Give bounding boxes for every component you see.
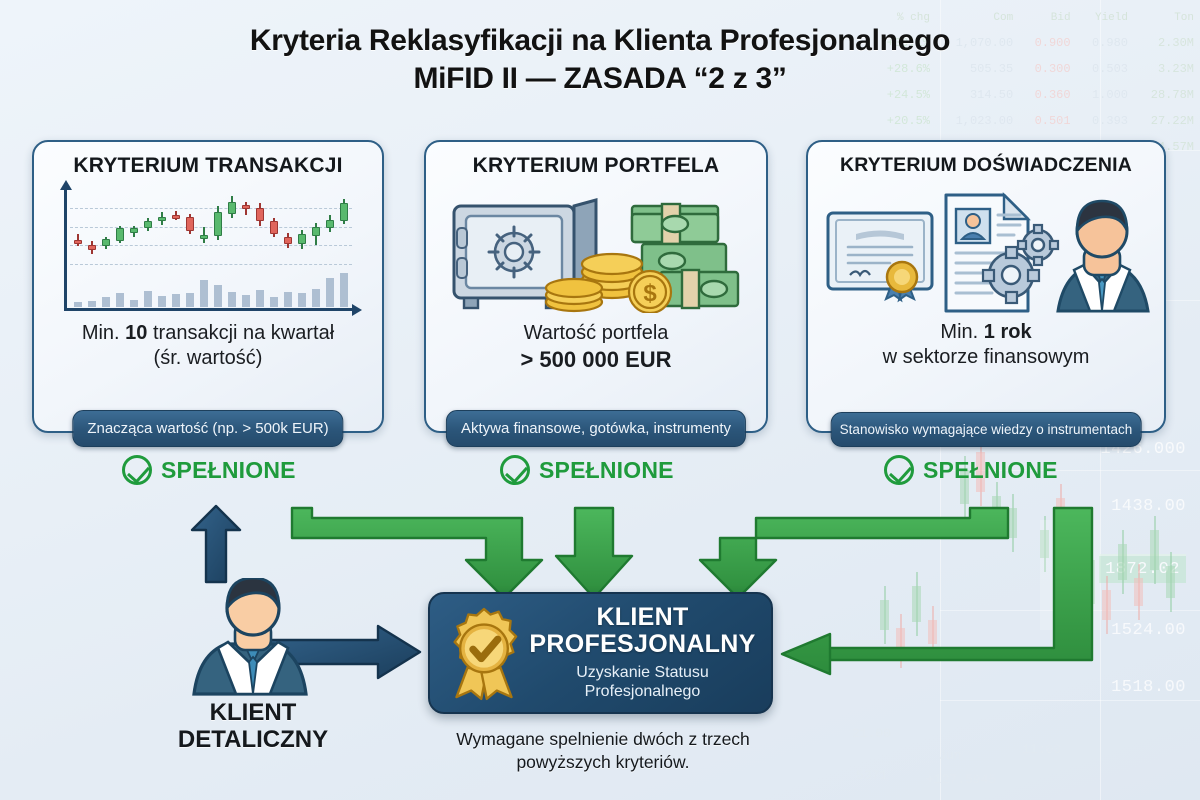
gold-award-ribbon-icon	[440, 605, 528, 701]
retail-client-label: KLIENT DETALICZNY	[148, 700, 358, 754]
result-title-line1: KLIENT	[528, 604, 757, 631]
footer-caption: Wymagane spelnienie dwóch z trzech powyż…	[408, 728, 798, 774]
result-sub-line1: Uzyskanie Statusu	[528, 663, 757, 683]
arrow-green-card2-to-result	[556, 508, 632, 598]
result-sub-line2: Profesjonalnego	[528, 682, 757, 702]
result-title: KLIENT PROFESJONALNY	[528, 604, 757, 658]
arrow-green-card3-upper-to-result	[700, 508, 1008, 598]
retail-label-line1: KLIENT	[148, 700, 358, 727]
result-subtitle: Uzyskanie Statusu Profesjonalnego	[528, 663, 757, 702]
retail-client-block: KLIENT DETALICZNY	[148, 578, 358, 754]
caption-line1: Wymagane spelnienie dwóch z trzech	[408, 728, 798, 751]
result-box-klient-profesjonalny[interactable]: KLIENT PROFESJONALNY Uzyskanie Statusu P…	[428, 592, 773, 714]
caption-line2: powyższych kryteriów.	[408, 751, 798, 774]
result-title-line2: PROFESJONALNY	[528, 631, 757, 658]
arrow-up-retail-to-card1	[192, 506, 240, 582]
businessman-avatar-icon	[178, 578, 328, 696]
infographic-canvas: % chgComBidYieldTon+30.1%1,070.000.9000.…	[0, 0, 1200, 800]
retail-label-line2: DETALICZNY	[148, 727, 358, 754]
